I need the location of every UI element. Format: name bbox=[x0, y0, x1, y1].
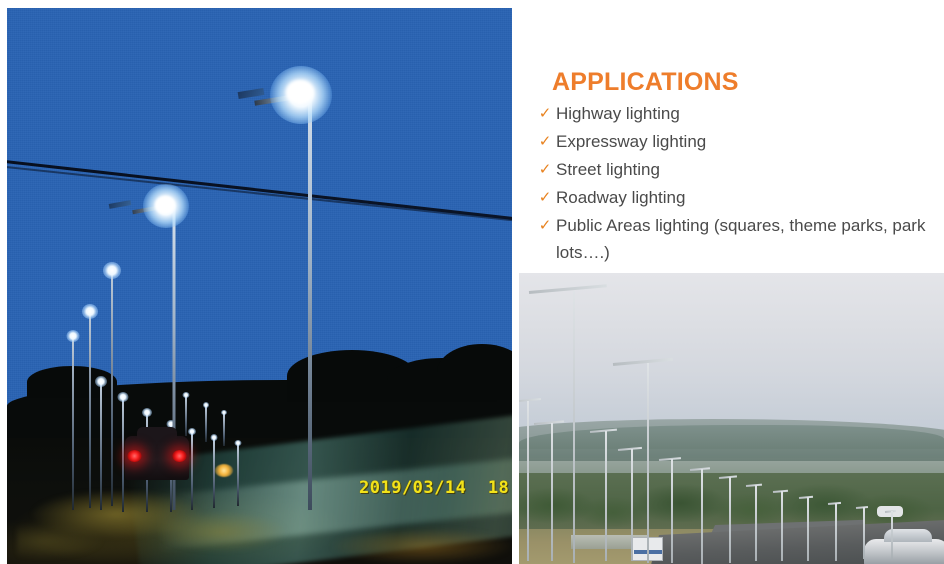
applications-text-panel: APPLICATIONS ✓ Highway lighting ✓ Expres… bbox=[519, 0, 944, 273]
lamp-pole bbox=[573, 291, 575, 563]
check-icon: ✓ bbox=[534, 128, 556, 155]
street-lamp-distant bbox=[221, 414, 227, 446]
list-item-label: Public Areas lighting (squares, theme pa… bbox=[556, 212, 939, 266]
lamp-pole bbox=[835, 503, 837, 561]
lamp-pole bbox=[122, 396, 124, 512]
slide-canvas: 2019/03/14 18:58 APPLICATIONS ✓ Highway … bbox=[0, 0, 944, 564]
list-item: ✓ Expressway lighting bbox=[534, 128, 939, 155]
tree-blob bbox=[437, 344, 512, 400]
solar-street-lamp-day bbox=[863, 507, 865, 559]
lamp-bulb bbox=[103, 262, 121, 279]
list-item: ✓ Public Areas lighting (squares, theme … bbox=[534, 212, 939, 266]
lamp-pole bbox=[701, 469, 703, 564]
lamp-pole bbox=[807, 497, 809, 561]
road-glow bbox=[307, 504, 512, 564]
lamp-pole bbox=[631, 449, 633, 561]
lamp-pole bbox=[729, 477, 731, 563]
lamp-pole bbox=[100, 380, 102, 510]
list-item: ✓ Highway lighting bbox=[534, 100, 939, 127]
check-icon: ✓ bbox=[534, 212, 556, 239]
lamp-pole bbox=[551, 423, 553, 561]
lamp-pole bbox=[111, 266, 113, 506]
lamp-bulb bbox=[221, 410, 227, 415]
applications-list: ✓ Highway lighting ✓ Expressway lighting… bbox=[534, 100, 939, 267]
foreground-car bbox=[864, 539, 944, 564]
solar-street-lamp-day bbox=[755, 485, 757, 561]
solar-street-lamp-day bbox=[551, 423, 553, 561]
lamp-pole bbox=[755, 485, 757, 561]
street-lamp-distant bbox=[69, 334, 77, 510]
lamp-pole bbox=[527, 401, 529, 561]
street-lamp-distant bbox=[97, 380, 105, 510]
taillight-right bbox=[172, 450, 187, 462]
list-item-label: Expressway lighting bbox=[556, 128, 706, 155]
street-lamp-distant bbox=[85, 308, 95, 508]
taillight-left bbox=[127, 450, 142, 462]
street-lamp-foreground bbox=[250, 70, 370, 510]
list-item: ✓ Street lighting bbox=[534, 156, 939, 183]
check-icon: ✓ bbox=[534, 156, 556, 183]
lamp-pole bbox=[605, 431, 607, 561]
solar-street-lamp-day bbox=[729, 477, 731, 563]
distant-amber-light bbox=[215, 464, 233, 477]
daytime-street-lighting-photo bbox=[519, 273, 944, 564]
lamp-bulb bbox=[67, 330, 80, 342]
car-with-taillights bbox=[125, 436, 189, 480]
list-item: ✓ Roadway lighting bbox=[534, 184, 939, 211]
list-item-label: Highway lighting bbox=[556, 100, 680, 127]
lamp-pole bbox=[781, 491, 783, 561]
night-street-lighting-photo: 2019/03/14 18:58 bbox=[7, 8, 512, 564]
photo-timestamp: 2019/03/14 18:58 bbox=[359, 478, 512, 498]
solar-street-lamp-day bbox=[701, 469, 703, 564]
street-lamp-distant bbox=[107, 266, 117, 506]
solar-street-lamp-day bbox=[573, 291, 575, 563]
street-lamp-distant bbox=[235, 444, 241, 506]
lamp-bulb-core bbox=[286, 80, 314, 104]
car-roof bbox=[137, 427, 177, 440]
lamp-pole bbox=[671, 459, 673, 563]
lamp-pole bbox=[891, 511, 893, 559]
check-icon: ✓ bbox=[534, 184, 556, 211]
solar-street-lamp-day bbox=[647, 363, 649, 563]
solar-street-lamp-day bbox=[835, 503, 837, 561]
lamp-pole bbox=[223, 414, 225, 446]
lamp-bulb-core bbox=[155, 196, 175, 214]
list-item-label: Street lighting bbox=[556, 156, 660, 183]
solar-street-lamp-day bbox=[891, 511, 893, 559]
solar-street-lamp-day bbox=[671, 459, 673, 563]
lamp-pole bbox=[308, 90, 312, 510]
list-item-label: Roadway lighting bbox=[556, 184, 685, 211]
lamp-pole bbox=[863, 507, 865, 559]
lamp-bulb bbox=[95, 376, 107, 387]
check-icon: ✓ bbox=[534, 100, 556, 127]
solar-street-lamp-day bbox=[807, 497, 809, 561]
lamp-pole bbox=[237, 444, 239, 506]
lamp-bulb bbox=[235, 440, 242, 446]
lamp-pole bbox=[89, 308, 91, 508]
lamp-pole bbox=[72, 334, 74, 510]
solar-street-lamp-day bbox=[527, 401, 529, 561]
solar-street-lamp-day bbox=[605, 431, 607, 561]
lamp-bulb bbox=[82, 304, 98, 319]
solar-street-lamp-day bbox=[631, 449, 633, 561]
solar-street-lamp-day bbox=[781, 491, 783, 561]
lamp-pole bbox=[647, 363, 649, 563]
lamp-bulb bbox=[118, 392, 129, 402]
page-title: APPLICATIONS bbox=[552, 68, 739, 97]
